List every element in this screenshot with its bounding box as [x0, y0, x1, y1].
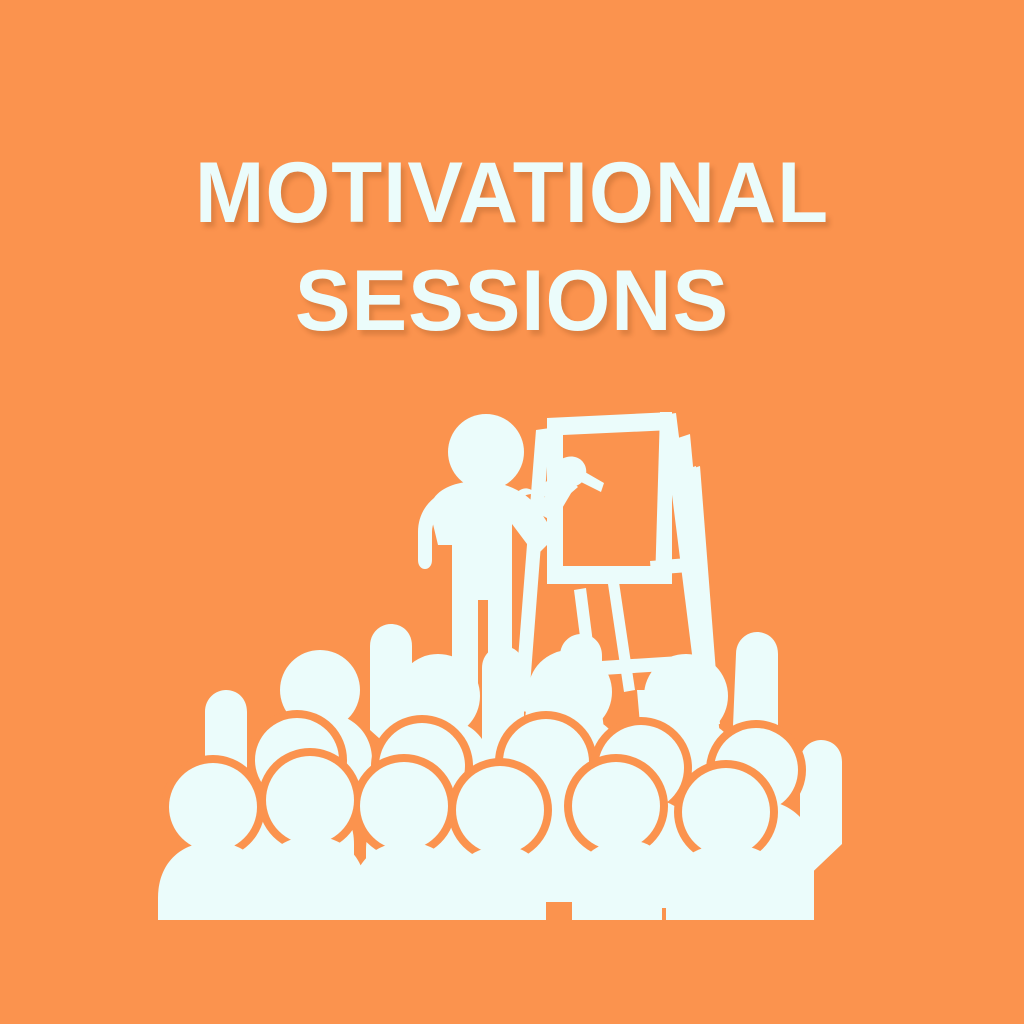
audience-head-f1 — [169, 763, 257, 851]
audience-head-f6 — [682, 768, 770, 856]
motivational-seminar-illustration — [0, 0, 1024, 1024]
audience-front-mass — [158, 900, 546, 920]
audience-head-f5 — [572, 762, 660, 850]
presenter-head — [448, 414, 524, 490]
easel-center-support — [608, 582, 635, 692]
audience-front-row — [158, 748, 790, 920]
audience-head-f4 — [456, 766, 544, 854]
marker-pen — [575, 468, 604, 492]
audience-head-f3 — [360, 762, 448, 850]
audience-crowd — [158, 624, 842, 920]
audience-head-f2 — [266, 756, 354, 844]
poster-canvas: MOTIVATIONAL SESSIONS — [0, 0, 1024, 1024]
